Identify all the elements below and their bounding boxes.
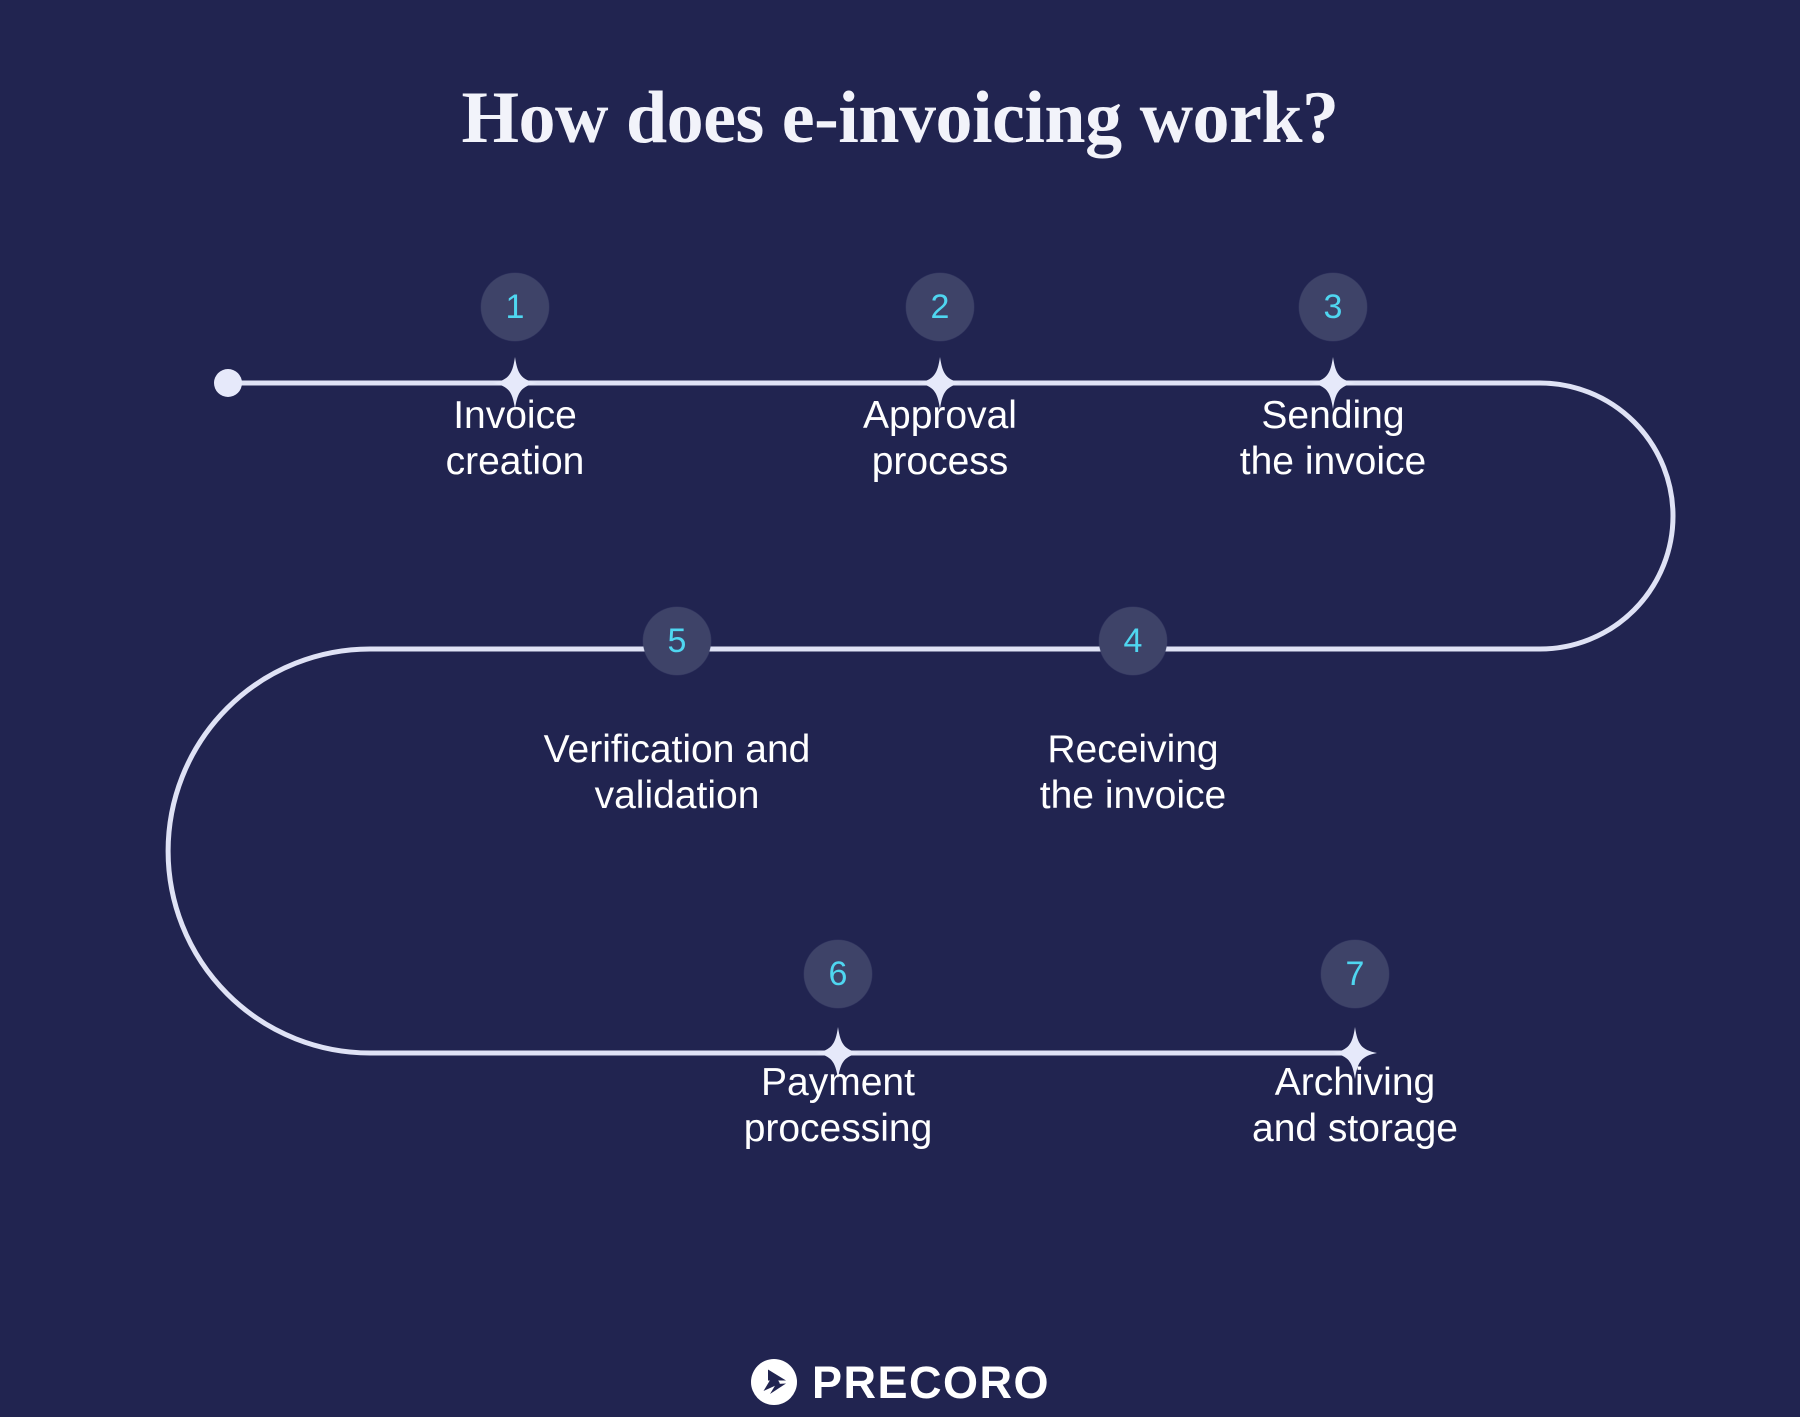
step-2-label: Approval process (730, 393, 1150, 485)
step-2: 2 Approval process (730, 273, 1150, 485)
timeline-path-graphic (0, 0, 1800, 1417)
page-title: How does e-invoicing work? (0, 76, 1800, 161)
step-1-number-badge: 1 (481, 273, 549, 341)
step-1: 1 Invoice creation (305, 273, 725, 485)
step-2-number-badge: 2 (906, 273, 974, 341)
precoro-wordmark: PRECORO (812, 1360, 1050, 1405)
step-3-number-badge: 3 (1299, 273, 1367, 341)
step-3-number: 3 (1324, 290, 1343, 324)
step-4-label: Receiving the invoice (923, 727, 1343, 819)
step-6-label: Payment processing (628, 1060, 1048, 1152)
precoro-circle-play-logo-icon (750, 1358, 798, 1406)
step-6-number: 6 (829, 957, 848, 991)
step-5-number-badge: 5 (643, 607, 711, 675)
step-7-number: 7 (1346, 957, 1365, 991)
step-3-label: Sending the invoice (1123, 393, 1543, 485)
step-7: 7 Archiving and storage (1145, 940, 1565, 1152)
step-5: 5 Verification and validation (467, 607, 887, 819)
step-7-number-badge: 7 (1321, 940, 1389, 1008)
step-4-number: 4 (1124, 624, 1143, 658)
step-2-number: 2 (931, 290, 950, 324)
step-5-number: 5 (668, 624, 687, 658)
step-1-label: Invoice creation (305, 393, 725, 485)
step-6: 6 Payment processing (628, 940, 1048, 1152)
step-6-number-badge: 6 (804, 940, 872, 1008)
step-7-label: Archiving and storage (1145, 1060, 1565, 1152)
step-1-number: 1 (506, 290, 525, 324)
step-3: 3 Sending the invoice (1123, 273, 1543, 485)
einvoicing-infographic: How does e-invoicing work? 1 Invoice cre… (0, 0, 1800, 1417)
timeline-start-dot (214, 369, 242, 397)
step-5-label: Verification and validation (467, 727, 887, 819)
step-4-number-badge: 4 (1099, 607, 1167, 675)
precoro-logo: PRECORO (0, 1358, 1800, 1406)
step-4: 4 Receiving the invoice (923, 607, 1343, 819)
